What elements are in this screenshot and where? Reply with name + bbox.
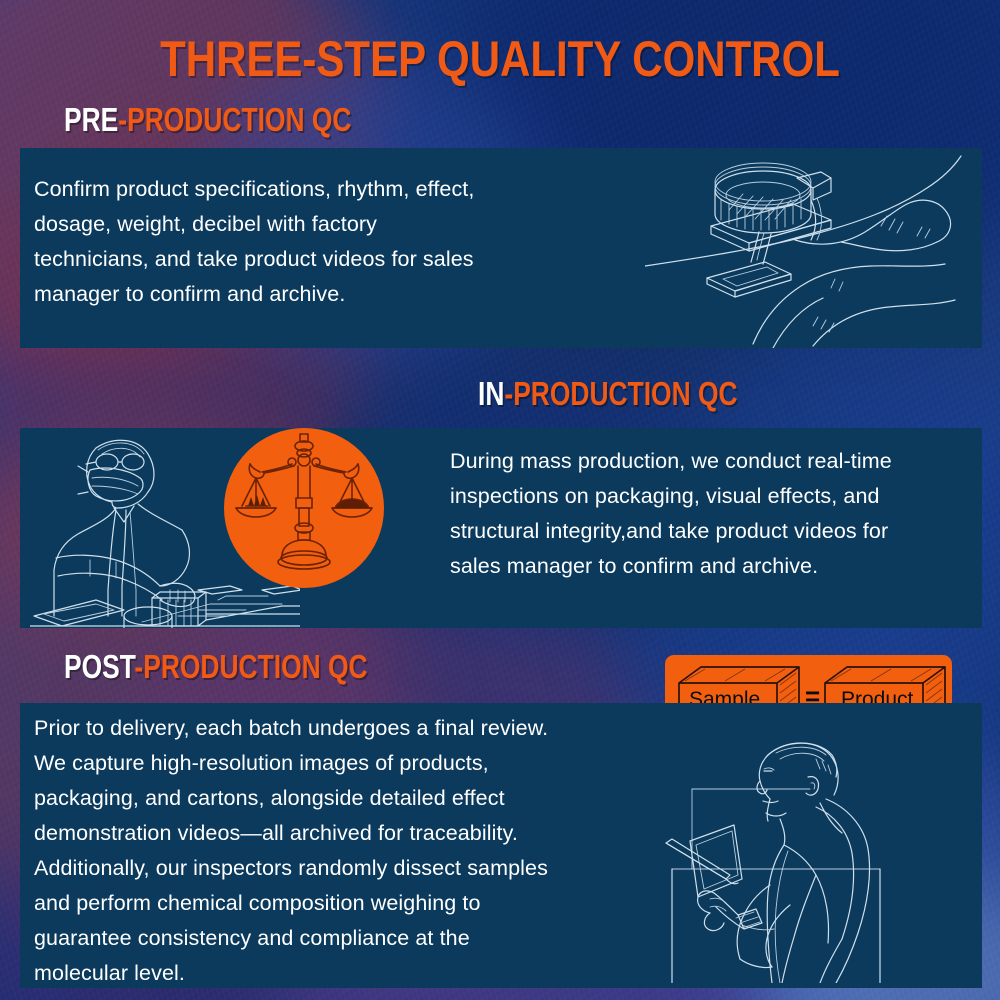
body-text-pre-production: Confirm product specifications, rhythm, … bbox=[34, 172, 634, 312]
balance-scale-badge bbox=[224, 428, 384, 588]
heading-post-production: POST-PRODUCTION QC bbox=[64, 650, 368, 684]
balance-scale-icon bbox=[224, 428, 384, 588]
heading-post-white: POST bbox=[64, 648, 134, 685]
panel-post-production: Prior to delivery, each batch undergoes … bbox=[20, 703, 982, 988]
heading-pre-production: PRE-PRODUCTION QC bbox=[64, 103, 351, 137]
heading-pre-orange: -PRODUCTION QC bbox=[118, 101, 351, 138]
body-text-in-production: During mass production, we conduct real-… bbox=[450, 444, 980, 584]
panel-pre-production: Confirm product specifications, rhythm, … bbox=[20, 148, 982, 348]
hand-holding-product-sketch bbox=[645, 148, 982, 348]
inspector-with-clipboard-sketch bbox=[630, 733, 960, 983]
page-title: THREE-STEP QUALITY CONTROL bbox=[80, 33, 920, 85]
heading-in-white: IN bbox=[478, 375, 504, 412]
panel-in-production: During mass production, we conduct real-… bbox=[20, 428, 982, 628]
heading-post-orange: -PRODUCTION QC bbox=[134, 648, 367, 685]
infographic-page: THREE-STEP QUALITY CONTROL PRE-PRODUCTIO… bbox=[0, 0, 1000, 1000]
heading-in-orange: -PRODUCTION QC bbox=[504, 375, 737, 412]
heading-in-production: IN-PRODUCTION QC bbox=[478, 377, 738, 411]
body-text-post-production: Prior to delivery, each batch undergoes … bbox=[34, 711, 674, 988]
heading-pre-white: PRE bbox=[64, 101, 118, 138]
